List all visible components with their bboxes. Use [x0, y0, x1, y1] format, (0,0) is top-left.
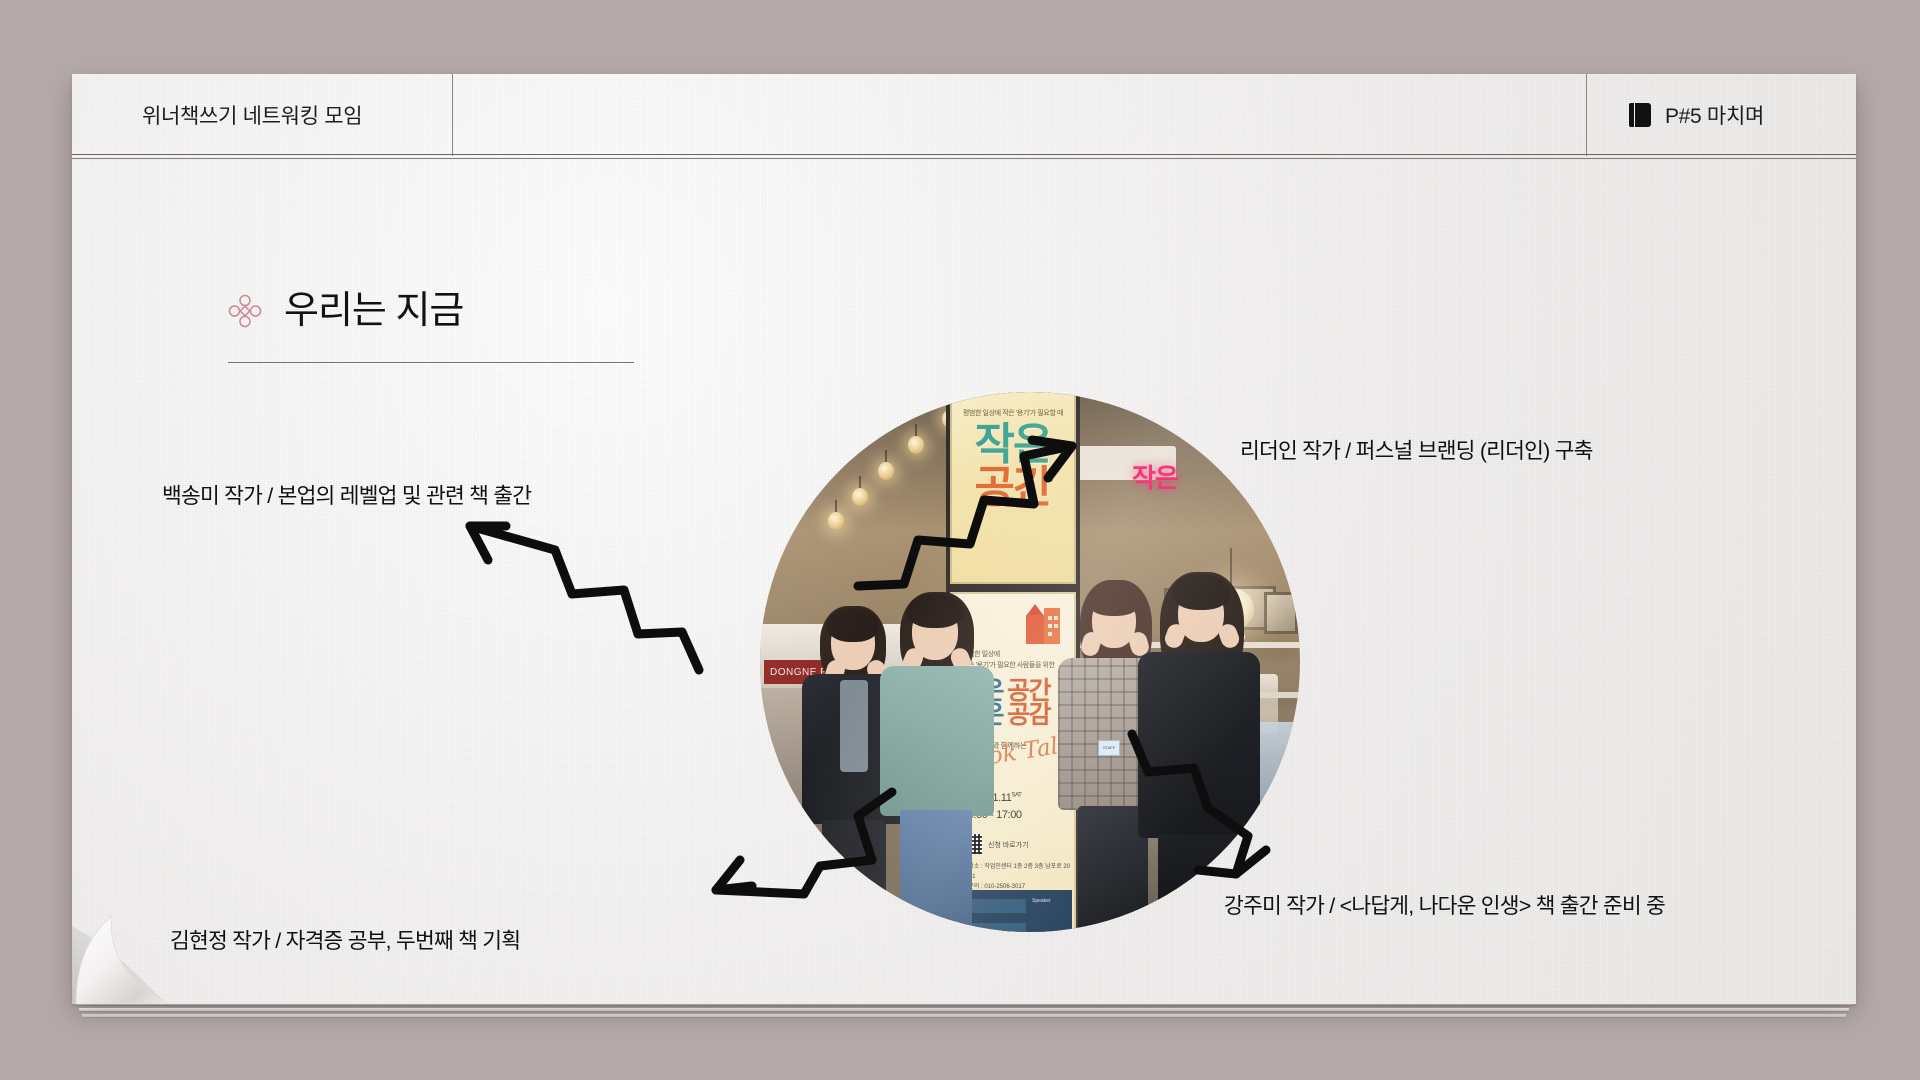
header-spacer: [453, 74, 1586, 156]
paper-stack-edges: [76, 1002, 1852, 1020]
header-divider-right: [1586, 74, 1587, 156]
four-petal-flower-icon: [228, 294, 262, 328]
team-photo: DONGNE P 작은 평범한 일: [760, 392, 1300, 932]
arrow-top-left: [470, 526, 699, 670]
closed-book-icon: [1629, 103, 1651, 127]
header-section-indicator: P#5 마치며: [1587, 74, 1856, 156]
section-underline: [228, 362, 634, 363]
section-title-block: 우리는 지금: [228, 292, 628, 363]
label-baek-songmi: 백송미 작가 / 본업의 레벨업 및 관련 책 출간: [162, 479, 531, 510]
header-title: 위너책쓰기 네트워킹 모임: [72, 74, 452, 156]
label-kim-hyunjung: 김현정 작가 / 자격증 공부, 두번째 책 기획: [170, 924, 520, 955]
header-section-label: P#5 마치며: [1665, 100, 1764, 130]
slide-header: 위너책쓰기 네트워킹 모임 P#5 마치며: [72, 74, 1856, 156]
label-leaderin: 리더인 작가 / 퍼스널 브랜딩 (리더인) 구축: [1240, 434, 1593, 465]
slide-stage: 위너책쓰기 네트워킹 모임 P#5 마치며: [0, 0, 1920, 1080]
slide-canvas: 위너책쓰기 네트워킹 모임 P#5 마치며: [72, 74, 1856, 1004]
page-curl-corner: [72, 884, 192, 1004]
header-double-rule: [72, 154, 1856, 160]
label-kang-jumi: 강주미 작가 / <나답게, 나다운 인생> 책 출간 준비 중: [1224, 889, 1665, 920]
header-divider-left: [452, 74, 453, 156]
section-title: 우리는 지금: [284, 292, 463, 330]
